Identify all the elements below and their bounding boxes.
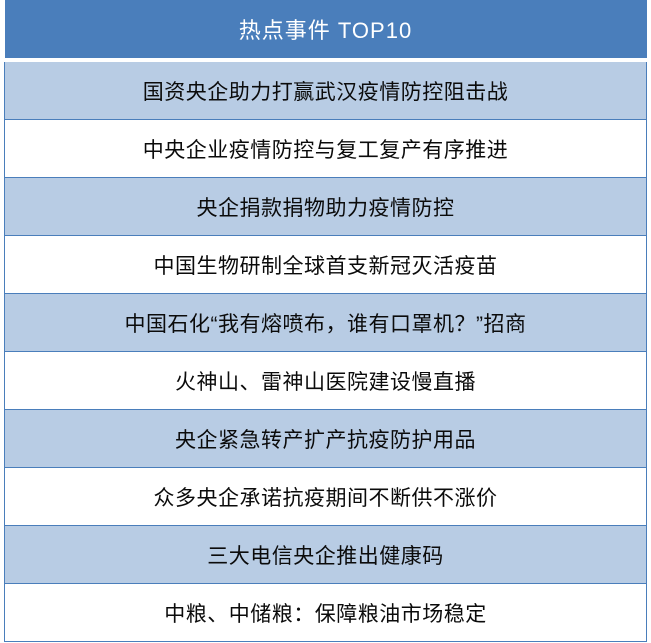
table-row[interactable]: 众多央企承诺抗疫期间不断供不涨价 [5, 468, 647, 526]
table-title: 热点事件 TOP10 [5, 0, 647, 58]
hot-events-panel: 热点事件 TOP10 国资央企助力打赢武汉疫情防控阻击战 中央企业疫情防控与复工… [0, 0, 651, 643]
table-row[interactable]: 火神山、雷神山医院建设慢直播 [5, 352, 647, 410]
event-item-1[interactable]: 国资央企助力打赢武汉疫情防控阻击战 [5, 62, 647, 120]
table-row[interactable]: 三大电信央企推出健康码 [5, 526, 647, 584]
event-item-8[interactable]: 众多央企承诺抗疫期间不断供不涨价 [5, 468, 647, 526]
event-item-4[interactable]: 中国生物研制全球首支新冠灭活疫苗 [5, 236, 647, 294]
hot-events-table: 热点事件 TOP10 国资央企助力打赢武汉疫情防控阻击战 中央企业疫情防控与复工… [4, 0, 647, 642]
event-item-7[interactable]: 央企紧急转产扩产抗疫防护用品 [5, 410, 647, 468]
table-row[interactable]: 央企紧急转产扩产抗疫防护用品 [5, 410, 647, 468]
table-row[interactable]: 国资央企助力打赢武汉疫情防控阻击战 [5, 62, 647, 120]
event-item-5[interactable]: 中国石化“我有熔喷布，谁有口罩机？”招商 [5, 294, 647, 352]
table-row[interactable]: 中国生物研制全球首支新冠灭活疫苗 [5, 236, 647, 294]
table-row[interactable]: 中央企业疫情防控与复工复产有序推进 [5, 120, 647, 178]
event-item-6[interactable]: 火神山、雷神山医院建设慢直播 [5, 352, 647, 410]
table-row[interactable]: 中国石化“我有熔喷布，谁有口罩机？”招商 [5, 294, 647, 352]
table-header-row: 热点事件 TOP10 [5, 0, 647, 58]
event-item-10[interactable]: 中粮、中储粮：保障粮油市场稳定 [5, 584, 647, 642]
hot-events-table-body: 热点事件 TOP10 国资央企助力打赢武汉疫情防控阻击战 中央企业疫情防控与复工… [5, 0, 647, 642]
event-item-3[interactable]: 央企捐款捐物助力疫情防控 [5, 178, 647, 236]
table-row[interactable]: 中粮、中储粮：保障粮油市场稳定 [5, 584, 647, 642]
event-item-2[interactable]: 中央企业疫情防控与复工复产有序推进 [5, 120, 647, 178]
table-row[interactable]: 央企捐款捐物助力疫情防控 [5, 178, 647, 236]
event-item-9[interactable]: 三大电信央企推出健康码 [5, 526, 647, 584]
